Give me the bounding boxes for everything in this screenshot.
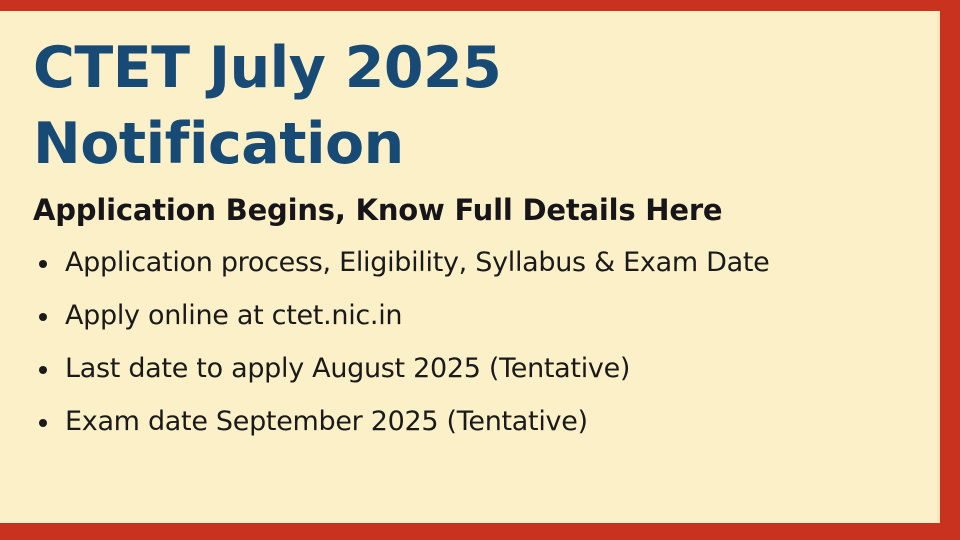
page-title-line-2: Notification xyxy=(33,111,404,177)
list-item-label: Apply online at ctet.nic.in xyxy=(65,300,402,331)
poster-card: CTET July 2025 Notification Application … xyxy=(0,0,960,540)
page-title-line-1: CTET July 2025 xyxy=(33,35,501,101)
list-item: Last date to apply August 2025 (Tentativ… xyxy=(33,355,938,382)
list-item-label: Exam date September 2025 (Tentative) xyxy=(65,406,588,437)
page-title: CTET July 2025 Notification xyxy=(33,31,938,183)
bullet-dot-icon xyxy=(39,260,47,268)
bullet-dot-icon xyxy=(39,313,47,321)
list-item-label: Application process, Eligibility, Syllab… xyxy=(65,247,769,278)
bullet-dot-icon xyxy=(39,366,47,374)
list-item-label: Last date to apply August 2025 (Tentativ… xyxy=(65,353,630,384)
poster-content: CTET July 2025 Notification Application … xyxy=(33,31,938,461)
page-subtitle: Application Begins, Know Full Details He… xyxy=(33,193,938,228)
details-bullet-list: Application process, Eligibility, Syllab… xyxy=(33,249,938,435)
list-item: Exam date September 2025 (Tentative) xyxy=(33,408,938,435)
list-item: Apply online at ctet.nic.in xyxy=(33,302,938,329)
bullet-dot-icon xyxy=(39,419,47,427)
poster-inner-panel: CTET July 2025 Notification Application … xyxy=(0,11,940,523)
list-item: Application process, Eligibility, Syllab… xyxy=(33,249,938,276)
